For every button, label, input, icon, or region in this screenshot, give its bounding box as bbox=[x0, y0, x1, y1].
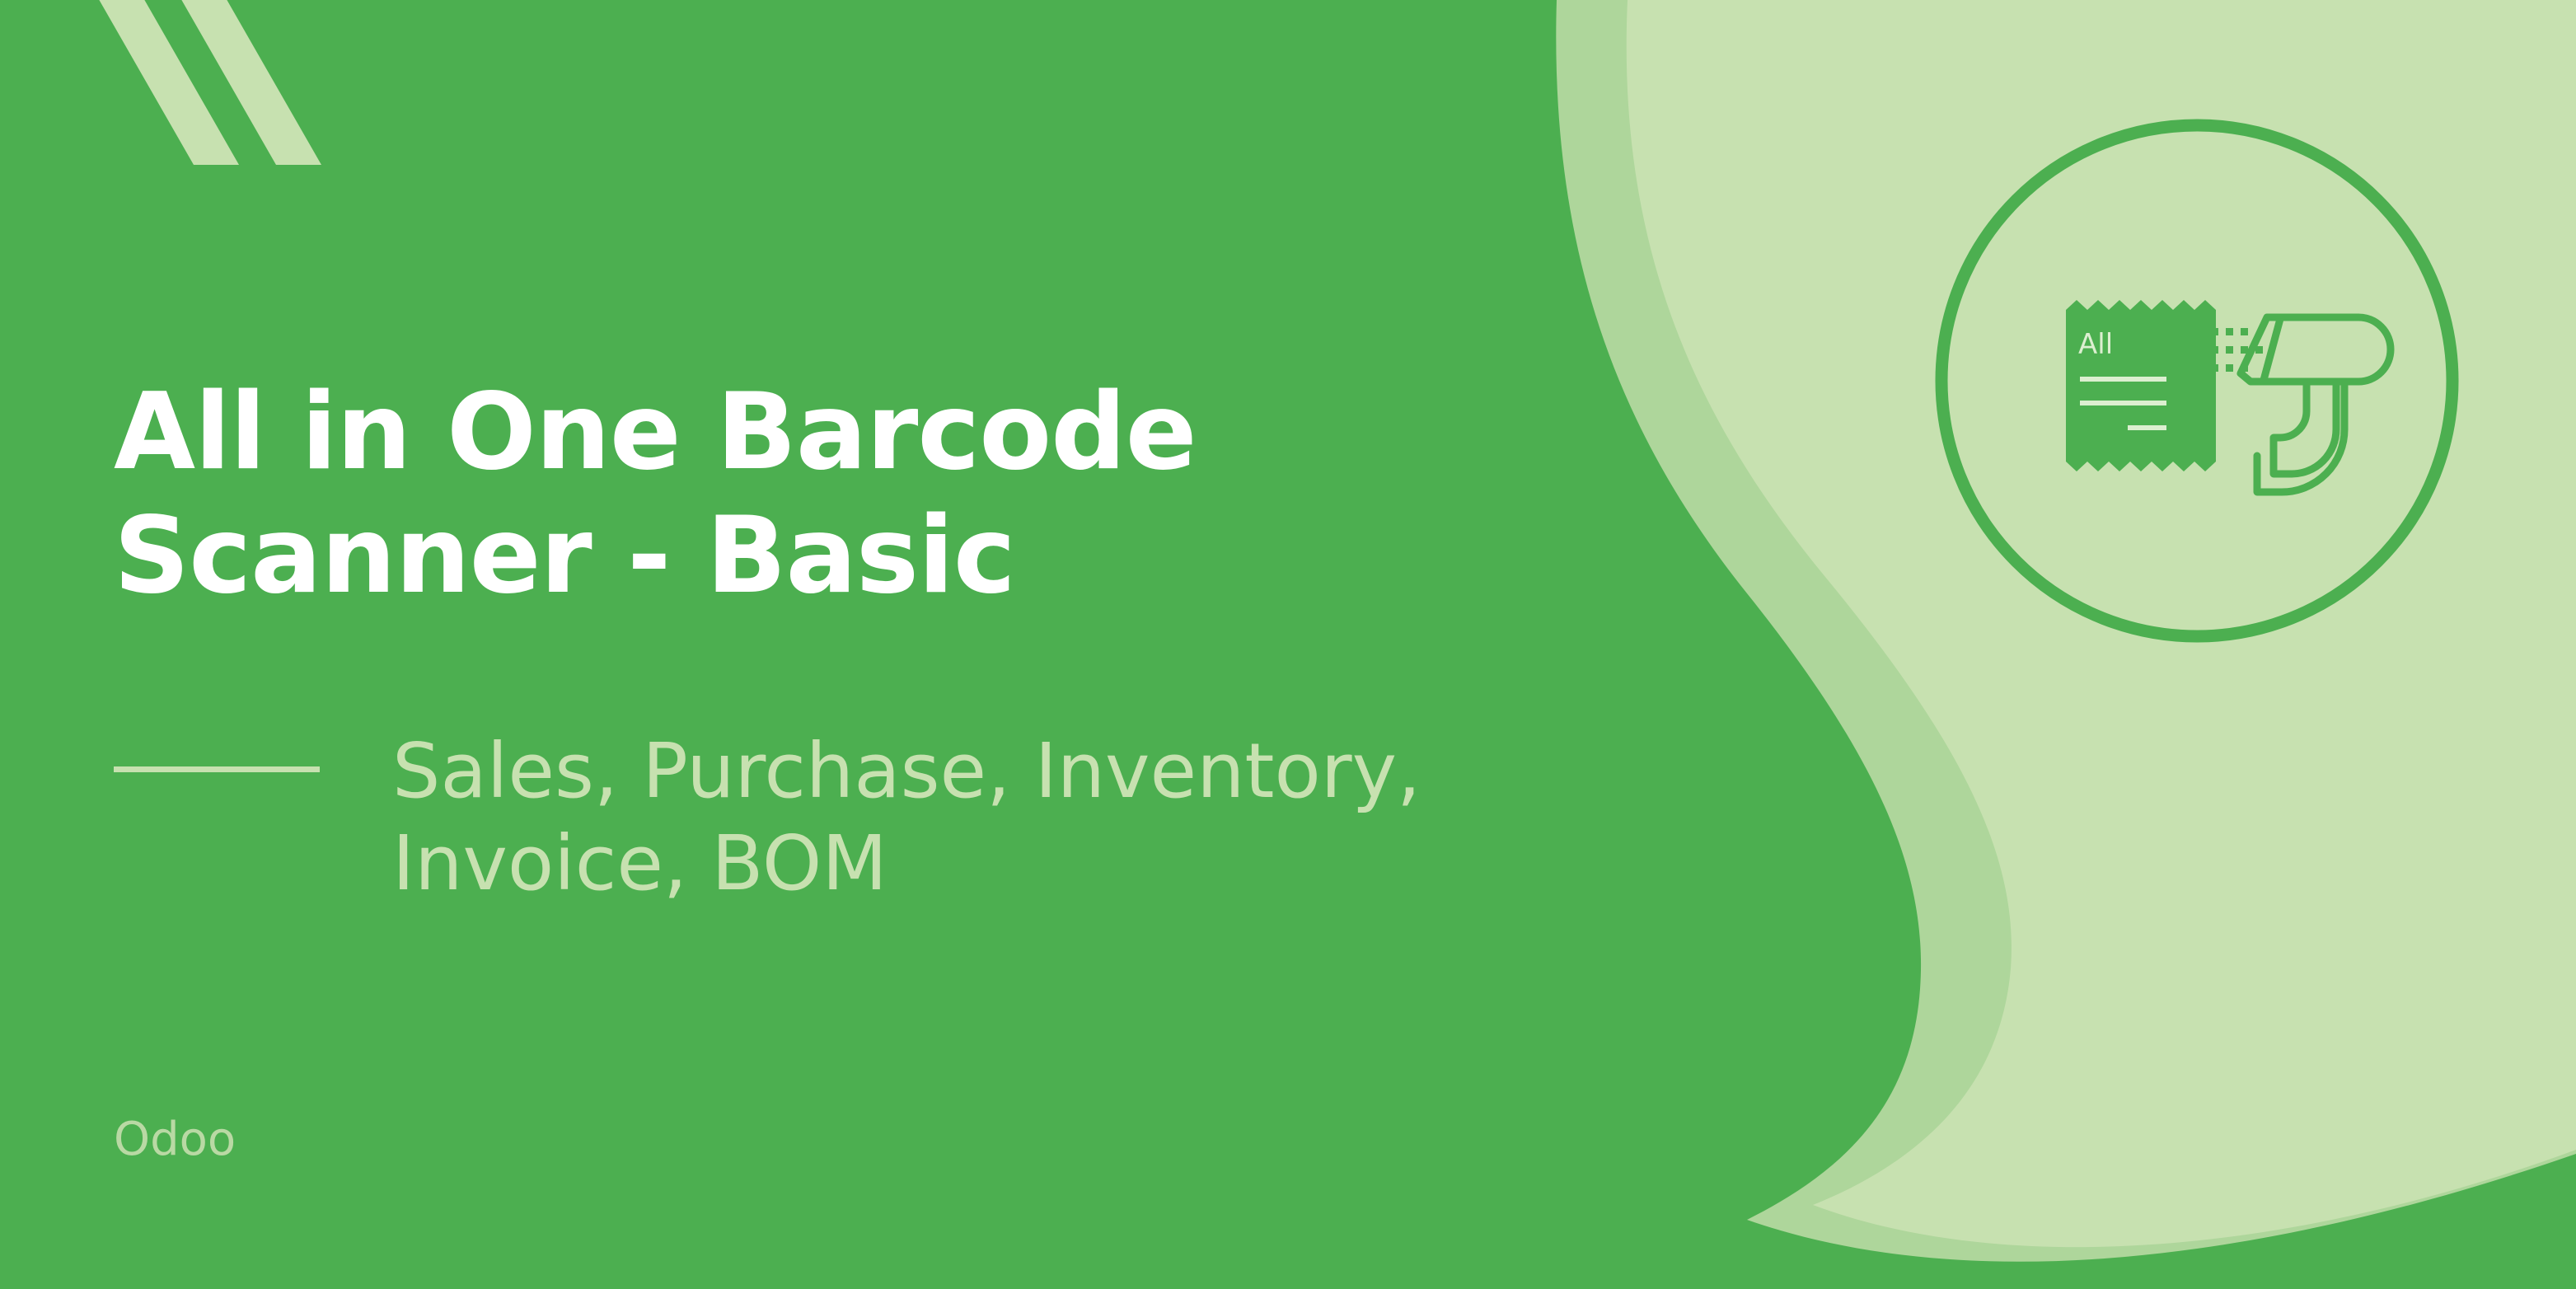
receipt-icon: All bbox=[2066, 300, 2216, 471]
receipt-rule-1 bbox=[2080, 377, 2166, 382]
badge-circle: All bbox=[1927, 111, 2466, 650]
brand-label: Odoo bbox=[114, 1117, 236, 1163]
promo-banner: All in One Barcode Scanner - Basic Sales… bbox=[0, 0, 2576, 1289]
banner-content: All in One Barcode Scanner - Basic Sales… bbox=[114, 0, 1762, 1289]
receipt-rule-3 bbox=[2128, 425, 2166, 430]
subtitle-row: Sales, Purchase, Inventory, Invoice, BOM bbox=[114, 725, 1729, 910]
page-subtitle: Sales, Purchase, Inventory, Invoice, BOM bbox=[392, 725, 1729, 910]
badge-icon-group: All bbox=[1927, 111, 2466, 650]
receipt-rule-2 bbox=[2080, 401, 2166, 405]
subtitle-dash-rule bbox=[114, 766, 320, 772]
barcode-scanner-gun-icon bbox=[2241, 317, 2391, 492]
page-title: All in One Barcode Scanner - Basic bbox=[114, 371, 1515, 618]
receipt-label: All bbox=[2078, 328, 2113, 361]
